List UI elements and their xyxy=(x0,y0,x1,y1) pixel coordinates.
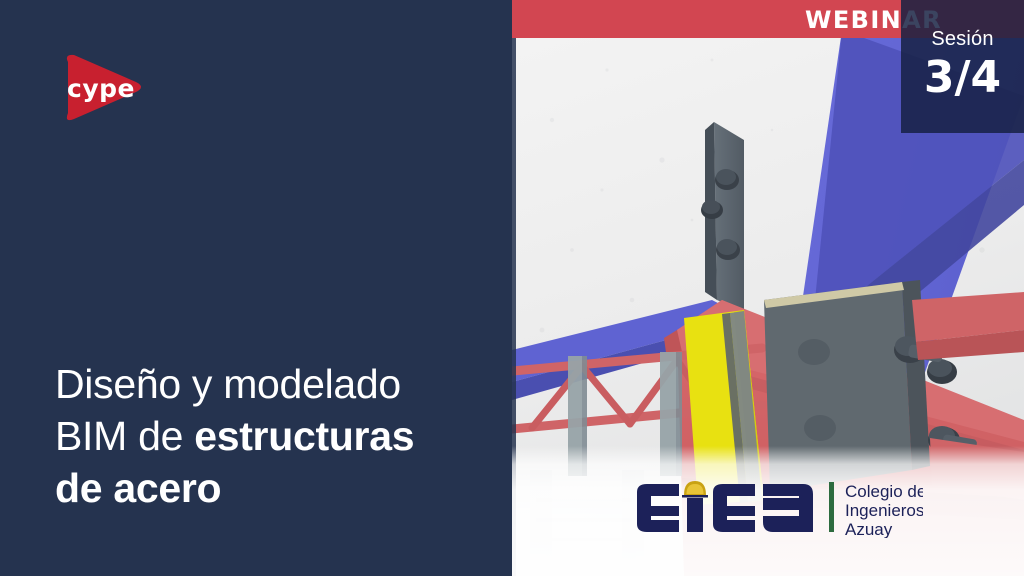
session-value: 3/4 xyxy=(901,52,1024,103)
session-badge: Sesión 3/4 xyxy=(901,0,1024,133)
title-line-2-bold: estructuras xyxy=(194,413,414,459)
title-line-2-regular: BIM de xyxy=(55,413,194,459)
cica-line-3: Azuay xyxy=(845,520,893,538)
webinar-poster: WEBINAR Sesión 3/4 cype Diseño y modelad… xyxy=(0,0,1024,576)
left-panel: cype Diseño y modelado BIM de estructura… xyxy=(0,0,512,576)
cica-line-1: Colegio de xyxy=(845,482,923,501)
title-line-3: de acero xyxy=(55,462,485,514)
title-line-2: BIM de estructuras xyxy=(55,410,485,462)
cica-logo[interactable]: Colegio de Ingenieros Ingenieros Civiles… xyxy=(633,476,923,538)
cype-logo[interactable]: cype xyxy=(50,48,150,128)
title-line-3-bold: de acero xyxy=(55,465,221,511)
cica-line-2: Ingenieros Ingenieros Civiles xyxy=(845,501,923,520)
session-label: Sesión xyxy=(901,28,1024,51)
title-line-1: Diseño y modelado xyxy=(55,358,485,410)
page-title: Diseño y modelado BIM de estructuras de … xyxy=(55,358,485,514)
cype-wordmark: cype xyxy=(67,76,135,101)
